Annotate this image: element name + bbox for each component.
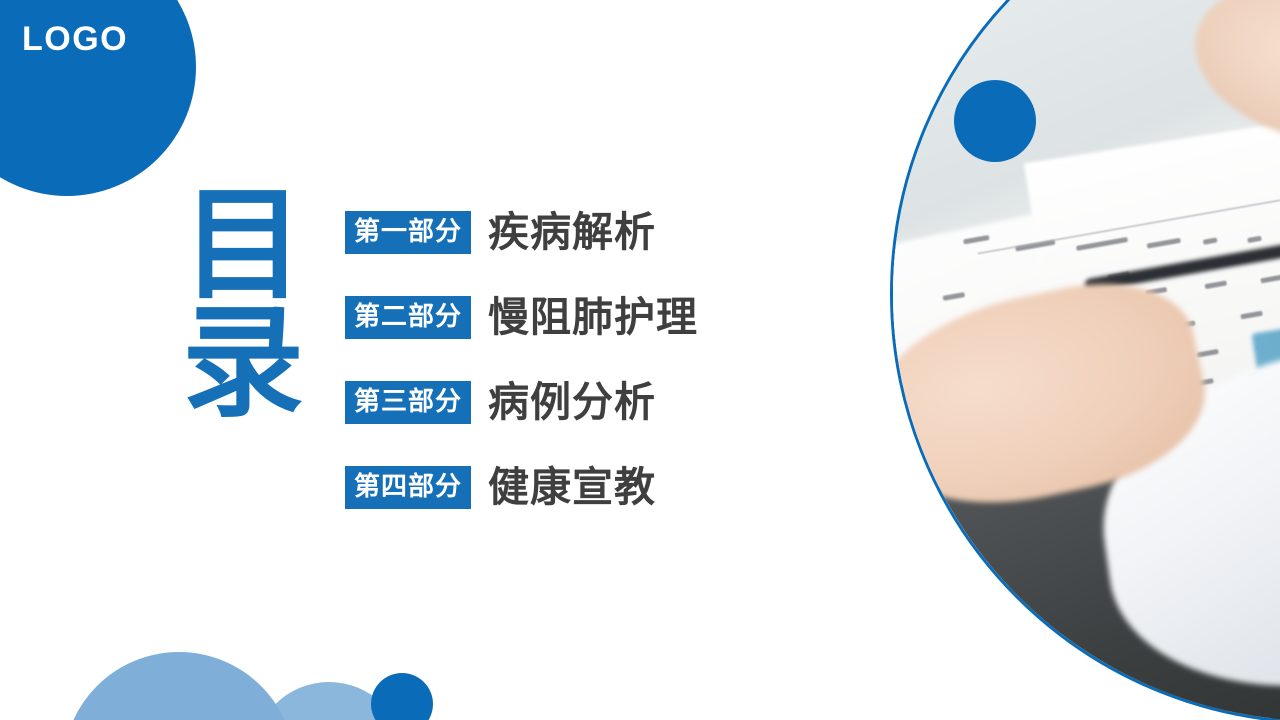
toc-item-1-badge: 第一部分 (345, 211, 471, 254)
toc-item-1-label: 疾病解析 (488, 212, 656, 253)
toc-item-4-label: 健康宣教 (488, 467, 656, 508)
toc-item-2-label: 慢阻肺护理 (488, 297, 698, 338)
hero-photo-circle (890, 0, 1280, 720)
presentation-slide: LOGO 目 录 第一部分 疾病解析 第二部分 慢阻肺护理 第三部分 病例分析 … (0, 0, 1280, 720)
page-title-line-1: 目 (168, 186, 318, 304)
page-title: 目 录 (168, 186, 318, 423)
page-title-line-2: 录 (168, 304, 318, 422)
hero-photo-image (893, 0, 1280, 720)
toc-item-1[interactable]: 第一部分 疾病解析 (345, 206, 865, 258)
toc-item-3-label: 病例分析 (488, 382, 656, 423)
toc-item-2[interactable]: 第二部分 慢阻肺护理 (345, 291, 865, 343)
accent-dot (954, 80, 1036, 162)
logo-text: LOGO (22, 22, 128, 56)
decorative-circle-large (63, 652, 295, 720)
table-of-contents-list: 第一部分 疾病解析 第二部分 慢阻肺护理 第三部分 病例分析 第四部分 健康宣教 (345, 206, 865, 546)
toc-item-3-badge: 第三部分 (345, 381, 471, 424)
toc-item-3[interactable]: 第三部分 病例分析 (345, 376, 865, 428)
toc-item-4[interactable]: 第四部分 健康宣教 (345, 461, 865, 513)
toc-item-4-badge: 第四部分 (345, 466, 471, 509)
decorative-circle-small (371, 673, 433, 720)
toc-item-2-badge: 第二部分 (345, 296, 471, 339)
